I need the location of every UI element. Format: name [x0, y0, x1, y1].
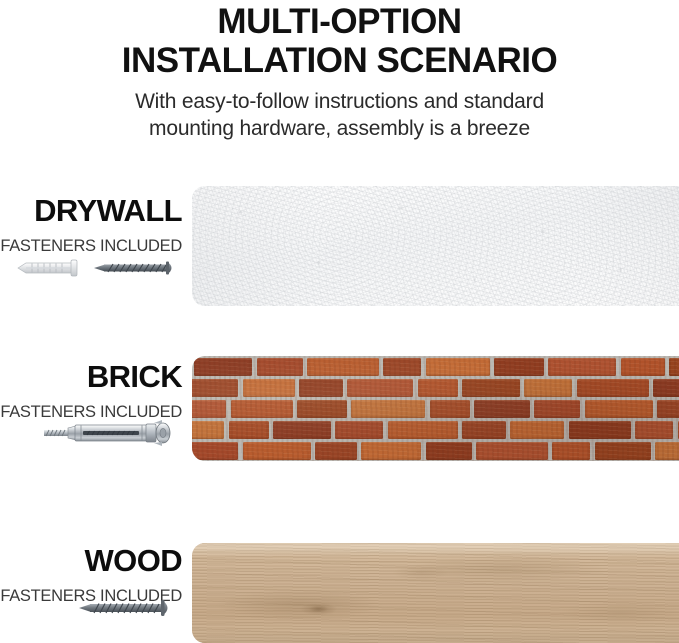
brick-unit [383, 358, 421, 376]
drywall-material-name: DRYWALL [0, 186, 182, 226]
brick-unit [510, 421, 564, 439]
brick-unit [462, 421, 506, 439]
drywall-texture [192, 186, 679, 306]
brick-unit [388, 421, 458, 439]
brick-unit [335, 421, 383, 439]
installation-scenario-infographic: MULTI-OPTION INSTALLATION SCENARIO With … [0, 0, 679, 643]
brick-unit [257, 358, 303, 376]
brick-unit [243, 442, 311, 460]
brick-row [192, 440, 671, 461]
brick-fasteners-label: FASTENERS INCLUDED [0, 392, 182, 421]
brick-unit [297, 400, 347, 418]
section-drywall: DRYWALL FASTENERS INCLUDED [0, 186, 679, 306]
brick-unit [273, 421, 331, 439]
screw-icon [92, 256, 182, 280]
section-brick: BRICK FASTENERS INCLUDED [0, 356, 679, 461]
brick-unit [653, 379, 679, 397]
screw-icon [77, 595, 182, 621]
brick-unit [299, 379, 343, 397]
brick-surface-panel [192, 356, 679, 461]
brick-unit [494, 358, 544, 376]
header: MULTI-OPTION INSTALLATION SCENARIO With … [0, 0, 679, 142]
brick-unit [669, 358, 679, 376]
brick-texture [192, 356, 679, 461]
brick-unit [635, 421, 673, 439]
subtitle-line-2: mounting hardware, assembly is a breeze [0, 116, 679, 142]
brick-unit [192, 421, 224, 439]
sleeve-anchor-bolt-icon [42, 419, 182, 447]
brick-unit [569, 421, 631, 439]
brick-unit [229, 421, 269, 439]
brick-unit [192, 442, 238, 460]
drywall-labels: DRYWALL FASTENERS INCLUDED [0, 186, 182, 255]
brick-unit [577, 379, 649, 397]
drywall-fastener-icons [0, 256, 182, 290]
brick-unit [315, 442, 357, 460]
wood-material-name: WOOD [0, 543, 182, 576]
brick-unit [351, 400, 425, 418]
page-subtitle: With easy-to-follow instructions and sta… [0, 80, 679, 142]
title-line-2: INSTALLATION SCENARIO [0, 41, 679, 80]
page-title: MULTI-OPTION INSTALLATION SCENARIO [0, 0, 679, 80]
brick-unit [192, 379, 238, 397]
wood-surface-panel [192, 543, 679, 643]
brick-unit [595, 442, 651, 460]
brick-unit [552, 442, 590, 460]
brick-unit [476, 442, 548, 460]
brick-unit [231, 400, 293, 418]
brick-material-name: BRICK [0, 356, 182, 392]
brick-unit [243, 379, 295, 397]
brick-unit [426, 358, 490, 376]
section-wood: WOOD FASTENERS INCLUDED [0, 543, 679, 643]
brick-unit [548, 358, 616, 376]
brick-labels: BRICK FASTENERS INCLUDED [0, 356, 182, 421]
brick-row [192, 419, 645, 440]
brick-unit [534, 400, 580, 418]
brick-unit [192, 400, 226, 418]
brick-unit [524, 379, 572, 397]
brick-unit [621, 358, 665, 376]
brick-unit [655, 442, 679, 460]
drywall-surface-panel [192, 186, 679, 306]
brick-fastener-icons [0, 419, 182, 453]
brick-unit [194, 358, 252, 376]
brick-unit [426, 442, 472, 460]
brick-unit [462, 379, 520, 397]
brick-unit [474, 400, 530, 418]
drywall-fasteners-label: FASTENERS INCLUDED [0, 226, 182, 255]
brick-unit [657, 400, 679, 418]
brick-unit [347, 379, 413, 397]
brick-unit [418, 379, 458, 397]
wall-anchor-plug-icon [14, 256, 88, 280]
wood-fastener-icons [0, 595, 182, 629]
brick-row [192, 377, 653, 398]
wood-texture [192, 543, 679, 643]
brick-row [192, 398, 667, 419]
brick-unit [585, 400, 653, 418]
brick-row [192, 356, 679, 377]
subtitle-line-1: With easy-to-follow instructions and sta… [0, 89, 679, 115]
brick-unit [430, 400, 470, 418]
title-line-1: MULTI-OPTION [217, 2, 461, 41]
brick-unit [307, 358, 379, 376]
brick-unit [361, 442, 421, 460]
